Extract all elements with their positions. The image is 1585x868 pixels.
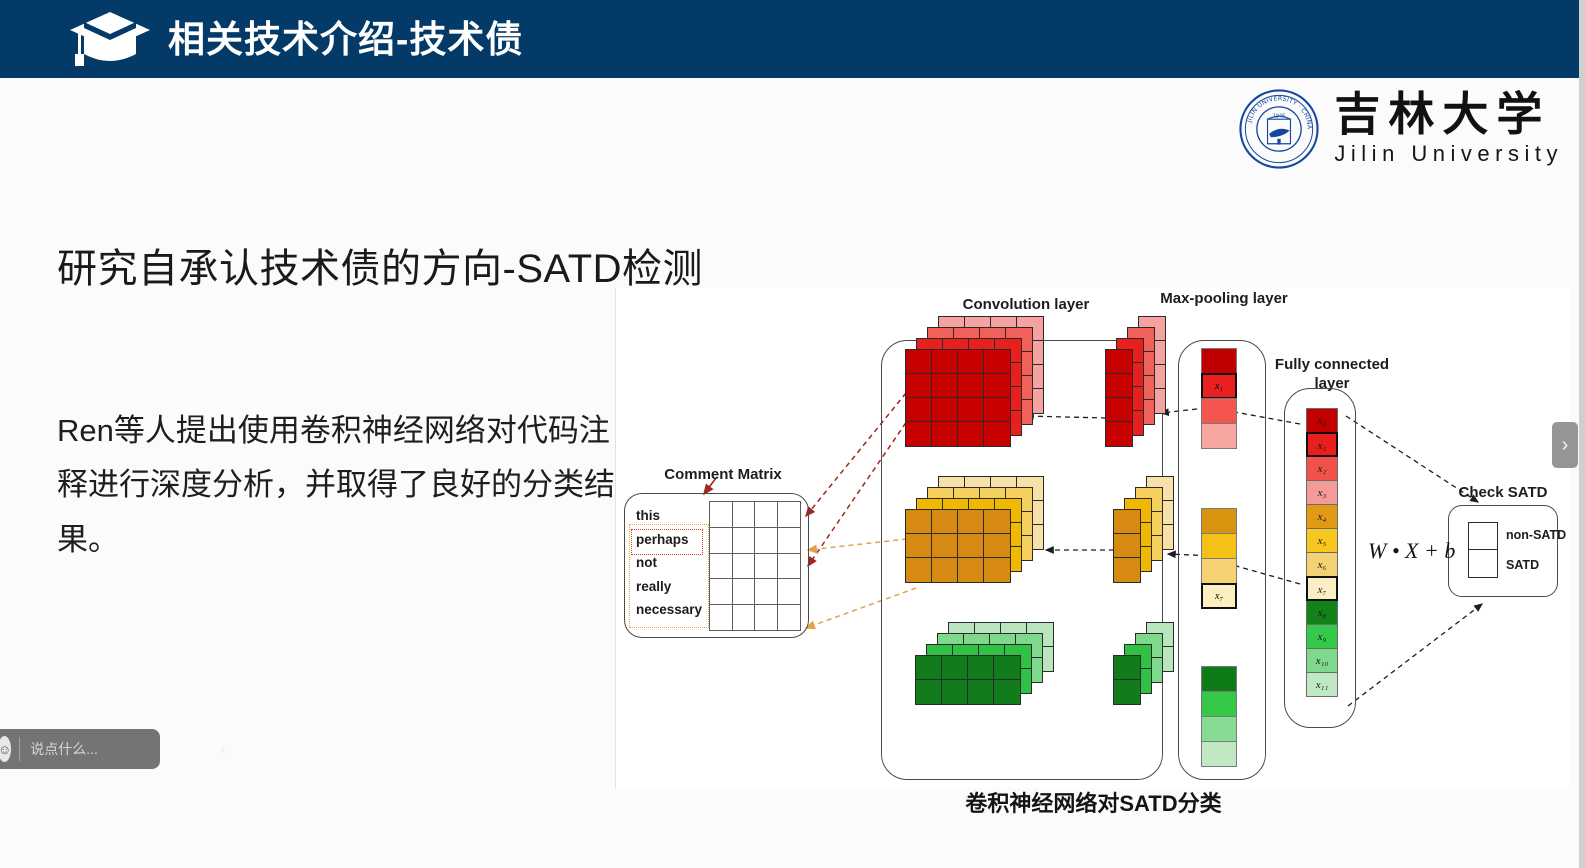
matrix-cell	[709, 527, 733, 554]
fc-cell: x₁₀	[1306, 648, 1338, 673]
matrix-cell	[732, 553, 756, 580]
graduation-cap-icon	[68, 10, 152, 68]
matrix-cell	[754, 501, 778, 528]
feature-map-sheet	[906, 350, 1010, 446]
feature-map-sheet	[1114, 510, 1140, 582]
fc-cell: x₁₁	[1306, 672, 1338, 697]
svg-text:1946: 1946	[1273, 114, 1286, 120]
label-check-satd: Check SATD	[1438, 484, 1568, 503]
label-comment-matrix: Comment Matrix	[638, 466, 808, 485]
svg-text:JILIN UNIVERSITY · CHINA: JILIN UNIVERSITY · CHINA	[1246, 95, 1313, 130]
linear-formula: W • X + b	[1368, 538, 1455, 564]
chevron-left-icon[interactable]: ‹	[220, 741, 225, 758]
fc-cell: x₀	[1306, 408, 1338, 433]
check-satd-panel	[1448, 505, 1558, 597]
orange-pool: x₇	[1201, 508, 1237, 608]
feature-map-sheet	[1114, 656, 1140, 704]
matrix-cell	[777, 553, 801, 580]
matrix-cell	[754, 527, 778, 554]
comment-word: necessary	[634, 598, 712, 622]
non-satd-box	[1468, 522, 1498, 551]
matrix-cell	[754, 578, 778, 605]
university-seal-icon: 1946 JILIN UNIVERSITY · CHINA	[1238, 88, 1320, 170]
feature-map-sheet	[916, 656, 1020, 704]
slide-header: 相关技术介绍-技术债	[0, 0, 1585, 78]
comment-matrix-grid	[710, 502, 800, 630]
next-slide-button[interactable]: ›	[1552, 422, 1578, 468]
university-name-cn: 吉林大学	[1334, 91, 1550, 139]
right-scrollbar-edge[interactable]	[1579, 0, 1585, 868]
label-convolution-layer: Convolution layer	[926, 296, 1126, 315]
matrix-cell	[709, 604, 733, 631]
fc-cell: x₆	[1306, 552, 1338, 577]
matrix-cell	[732, 501, 756, 528]
satd-label: SATD	[1506, 558, 1539, 572]
green-pool	[1201, 666, 1237, 766]
satd-box	[1468, 549, 1498, 578]
matrix-cell	[777, 604, 801, 631]
matrix-cell	[754, 604, 778, 631]
matrix-cell	[777, 578, 801, 605]
comment-input[interactable]	[19, 737, 212, 761]
matrix-cell	[732, 604, 756, 631]
matrix-cell	[777, 501, 801, 528]
matrix-cell	[732, 578, 756, 605]
fc-cell: x₃	[1306, 480, 1338, 505]
matrix-cell	[709, 501, 733, 528]
fc-cell: x₇	[1306, 576, 1338, 601]
check-satd-boxes	[1468, 522, 1498, 576]
comment-word: really	[634, 575, 712, 599]
matrix-cell	[754, 553, 778, 580]
slide-body-text: Ren等人提出使用卷积神经网络对代码注释进行深度分析，并取得了良好的分类结果。	[57, 404, 617, 567]
fc-cell: x₉	[1306, 624, 1338, 649]
feature-map-sheet	[906, 510, 1010, 582]
matrix-cell	[709, 578, 733, 605]
university-logo: 1946 JILIN UNIVERSITY · CHINA 吉林大学 Jilin…	[1238, 88, 1563, 170]
red-pool: x₁	[1201, 348, 1237, 448]
fc-cell: x₂	[1306, 456, 1338, 481]
fc-cell: x₈	[1306, 600, 1338, 625]
non-satd-label: non-SATD	[1506, 528, 1566, 542]
figure-caption: 卷积神经网络对SATD分类	[616, 786, 1571, 818]
fully-connected-column: x₀x₁x₂x₃x₄x₅x₆x₇x₈x₉x₁₀x₁₁	[1306, 408, 1338, 696]
comment-matrix-words: this perhaps not really necessary	[634, 504, 712, 622]
cnn-architecture-figure: Comment Matrix Convolution layer Max-poo…	[615, 288, 1570, 788]
fc-cell: x₅	[1306, 528, 1338, 553]
fc-cell: x₁	[1306, 432, 1338, 457]
comment-word: perhaps	[634, 528, 712, 552]
avatar[interactable]: ☺	[0, 736, 11, 762]
matrix-cell	[732, 527, 756, 554]
comment-word: not	[634, 551, 712, 575]
matrix-cell	[709, 553, 733, 580]
matrix-cell	[777, 527, 801, 554]
header-title: 相关技术介绍-技术债	[168, 21, 523, 58]
feature-map-sheet	[1106, 350, 1132, 446]
comment-word: this	[634, 504, 712, 528]
university-name-en: Jilin University	[1334, 141, 1563, 167]
fc-cell: x₄	[1306, 504, 1338, 529]
slide-title: 研究自承认技术债的方向-SATD检测	[57, 236, 703, 294]
label-max-pooling-layer: Max-pooling layer	[1154, 290, 1294, 309]
comment-toolbar[interactable]: ☺ ‹	[0, 729, 160, 769]
presentation-slide: 相关技术介绍-技术债 1946 JILIN UNIVERSITY · CHINA…	[0, 0, 1585, 868]
